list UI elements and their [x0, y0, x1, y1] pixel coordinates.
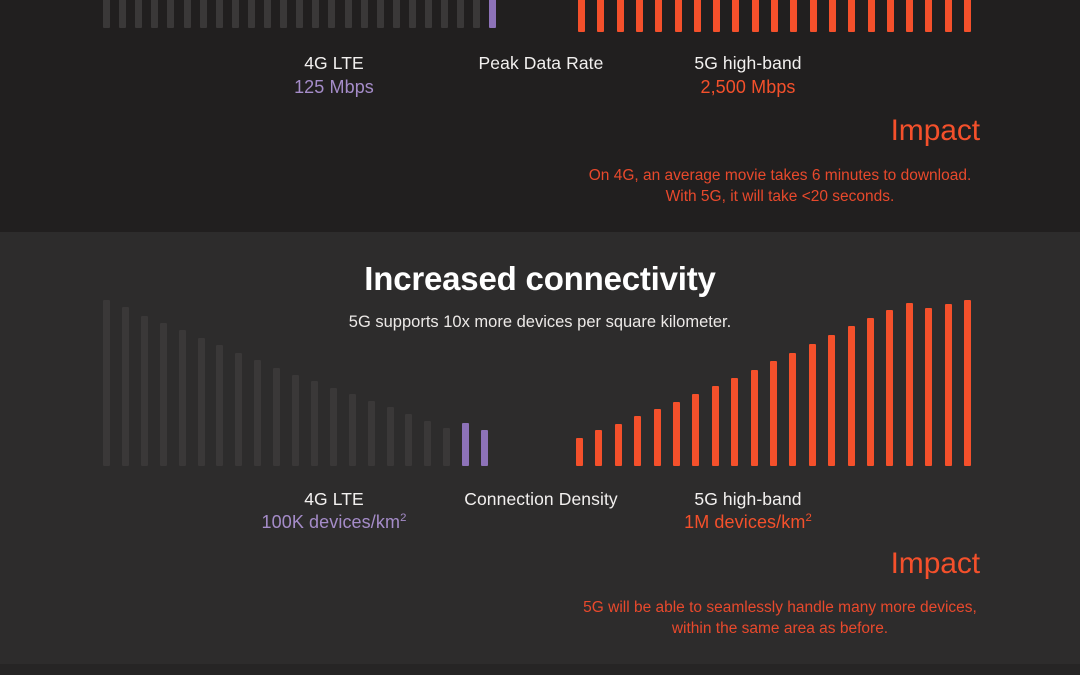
chart-bar [887, 0, 894, 32]
chart-bar [441, 0, 448, 28]
chart-bar [576, 438, 583, 466]
chart-bar [328, 0, 335, 28]
chart-bar [122, 307, 129, 466]
chart-bar [345, 0, 352, 28]
chart-bar [232, 0, 239, 28]
chart-bar [489, 0, 496, 28]
chart-bar [789, 353, 796, 466]
chart-bar [361, 0, 368, 28]
impact-body-peak: On 4G, an average movie takes 6 minutes … [580, 165, 980, 207]
chart-bar [184, 0, 191, 28]
chart-bar [141, 316, 148, 466]
value-density-lte: 100K devices/km2 [234, 512, 434, 533]
chart-bar [770, 361, 777, 466]
chart-bar [617, 0, 624, 32]
chart-peak-data-rate-5g-bars [578, 0, 983, 32]
chart-bar [473, 0, 480, 28]
chart-bar [848, 0, 855, 32]
chart-bar [296, 0, 303, 28]
chart-bar [216, 0, 223, 28]
chart-connection-density-lte-bars [103, 300, 503, 466]
chart-bar [712, 386, 719, 466]
chart-bar [731, 378, 738, 466]
value-density-5g-text: 1M devices/km [684, 512, 805, 532]
chart-bar [264, 0, 271, 28]
chart-bar [964, 300, 971, 466]
chart-bar [103, 300, 110, 466]
chart-bar [945, 0, 952, 32]
chart-bar [216, 345, 223, 466]
chart-bar [809, 344, 816, 466]
chart-bar [945, 304, 952, 466]
footer-strip [0, 664, 1080, 675]
chart-bar [867, 318, 874, 466]
label-peak-metric: Peak Data Rate [441, 53, 641, 74]
chart-bar [273, 368, 280, 466]
chart-bar [387, 407, 394, 466]
chart-bar [103, 0, 110, 28]
chart-bar [964, 0, 971, 32]
impact-body-density: 5G will be able to seamlessly handle man… [580, 597, 980, 639]
chart-bar [292, 375, 299, 466]
label-density-lte: 4G LTE [234, 489, 434, 510]
chart-bar [151, 0, 158, 28]
chart-bar [732, 0, 739, 32]
chart-bar [248, 0, 255, 28]
chart-bar [636, 0, 643, 32]
label-density-5g: 5G high-band [648, 489, 848, 510]
value-density-lte-text: 100K devices/km [262, 512, 401, 532]
chart-bar [654, 409, 661, 466]
chart-bar [906, 303, 913, 466]
value-peak-lte: 125 Mbps [234, 77, 434, 98]
value-peak-5g: 2,500 Mbps [648, 77, 848, 98]
chart-bar [462, 423, 469, 466]
chart-bar [771, 0, 778, 32]
chart-bar [330, 388, 337, 466]
chart-bar [481, 430, 488, 466]
chart-bar [377, 0, 384, 28]
chart-bar [160, 323, 167, 466]
chart-bar [906, 0, 913, 32]
chart-bar [751, 370, 758, 466]
chart-bar [848, 326, 855, 466]
page-title-increased-connectivity: Increased connectivity [0, 260, 1080, 298]
chart-peak-data-rate-lte-bars [103, 0, 503, 28]
chart-bar [828, 335, 835, 466]
chart-bar [311, 381, 318, 466]
impact-title-peak: Impact [891, 114, 980, 148]
chart-bar [254, 360, 261, 466]
chart-bar [167, 0, 174, 28]
chart-bar [457, 0, 464, 28]
chart-bar [200, 0, 207, 28]
chart-bar [578, 0, 585, 32]
label-peak-5g: 5G high-band [648, 53, 848, 74]
chart-bar [829, 0, 836, 32]
chart-bar [235, 353, 242, 466]
chart-bar [655, 0, 662, 32]
chart-bar [790, 0, 797, 32]
chart-bar [595, 430, 602, 466]
chart-bar [810, 0, 817, 32]
label-peak-lte: 4G LTE [234, 53, 434, 74]
chart-bar [312, 0, 319, 28]
chart-bar [692, 394, 699, 466]
label-density-metric: Connection Density [441, 489, 641, 510]
chart-bar [443, 428, 450, 466]
chart-bar [615, 424, 622, 466]
chart-bar [675, 0, 682, 32]
chart-bar [925, 308, 932, 466]
chart-bar [694, 0, 701, 32]
chart-bar [135, 0, 142, 28]
chart-bar [424, 421, 431, 466]
chart-bar [868, 0, 875, 32]
chart-bar [425, 0, 432, 28]
chart-bar [393, 0, 400, 28]
value-density-5g-exponent: 2 [805, 512, 811, 524]
chart-bar [349, 394, 356, 466]
chart-bar [673, 402, 680, 466]
chart-bar [409, 0, 416, 28]
chart-bar [597, 0, 604, 32]
chart-bar [280, 0, 287, 28]
value-density-5g: 1M devices/km2 [648, 512, 848, 533]
impact-title-density: Impact [891, 547, 980, 581]
chart-bar [634, 416, 641, 466]
chart-bar [198, 338, 205, 466]
chart-bar [925, 0, 932, 32]
section-peak-data-rate: 4G LTE 125 Mbps Peak Data Rate 5G high-b… [0, 0, 1080, 232]
value-density-lte-exponent: 2 [400, 512, 406, 524]
chart-bar [179, 330, 186, 466]
chart-bar [405, 414, 412, 466]
chart-connection-density-5g-bars [576, 300, 984, 466]
chart-bar [368, 401, 375, 466]
chart-bar [886, 310, 893, 466]
chart-bar [119, 0, 126, 28]
chart-bar [752, 0, 759, 32]
infographic-5g-benefits: 4G LTE 125 Mbps Peak Data Rate 5G high-b… [0, 0, 1080, 675]
chart-bar [713, 0, 720, 32]
